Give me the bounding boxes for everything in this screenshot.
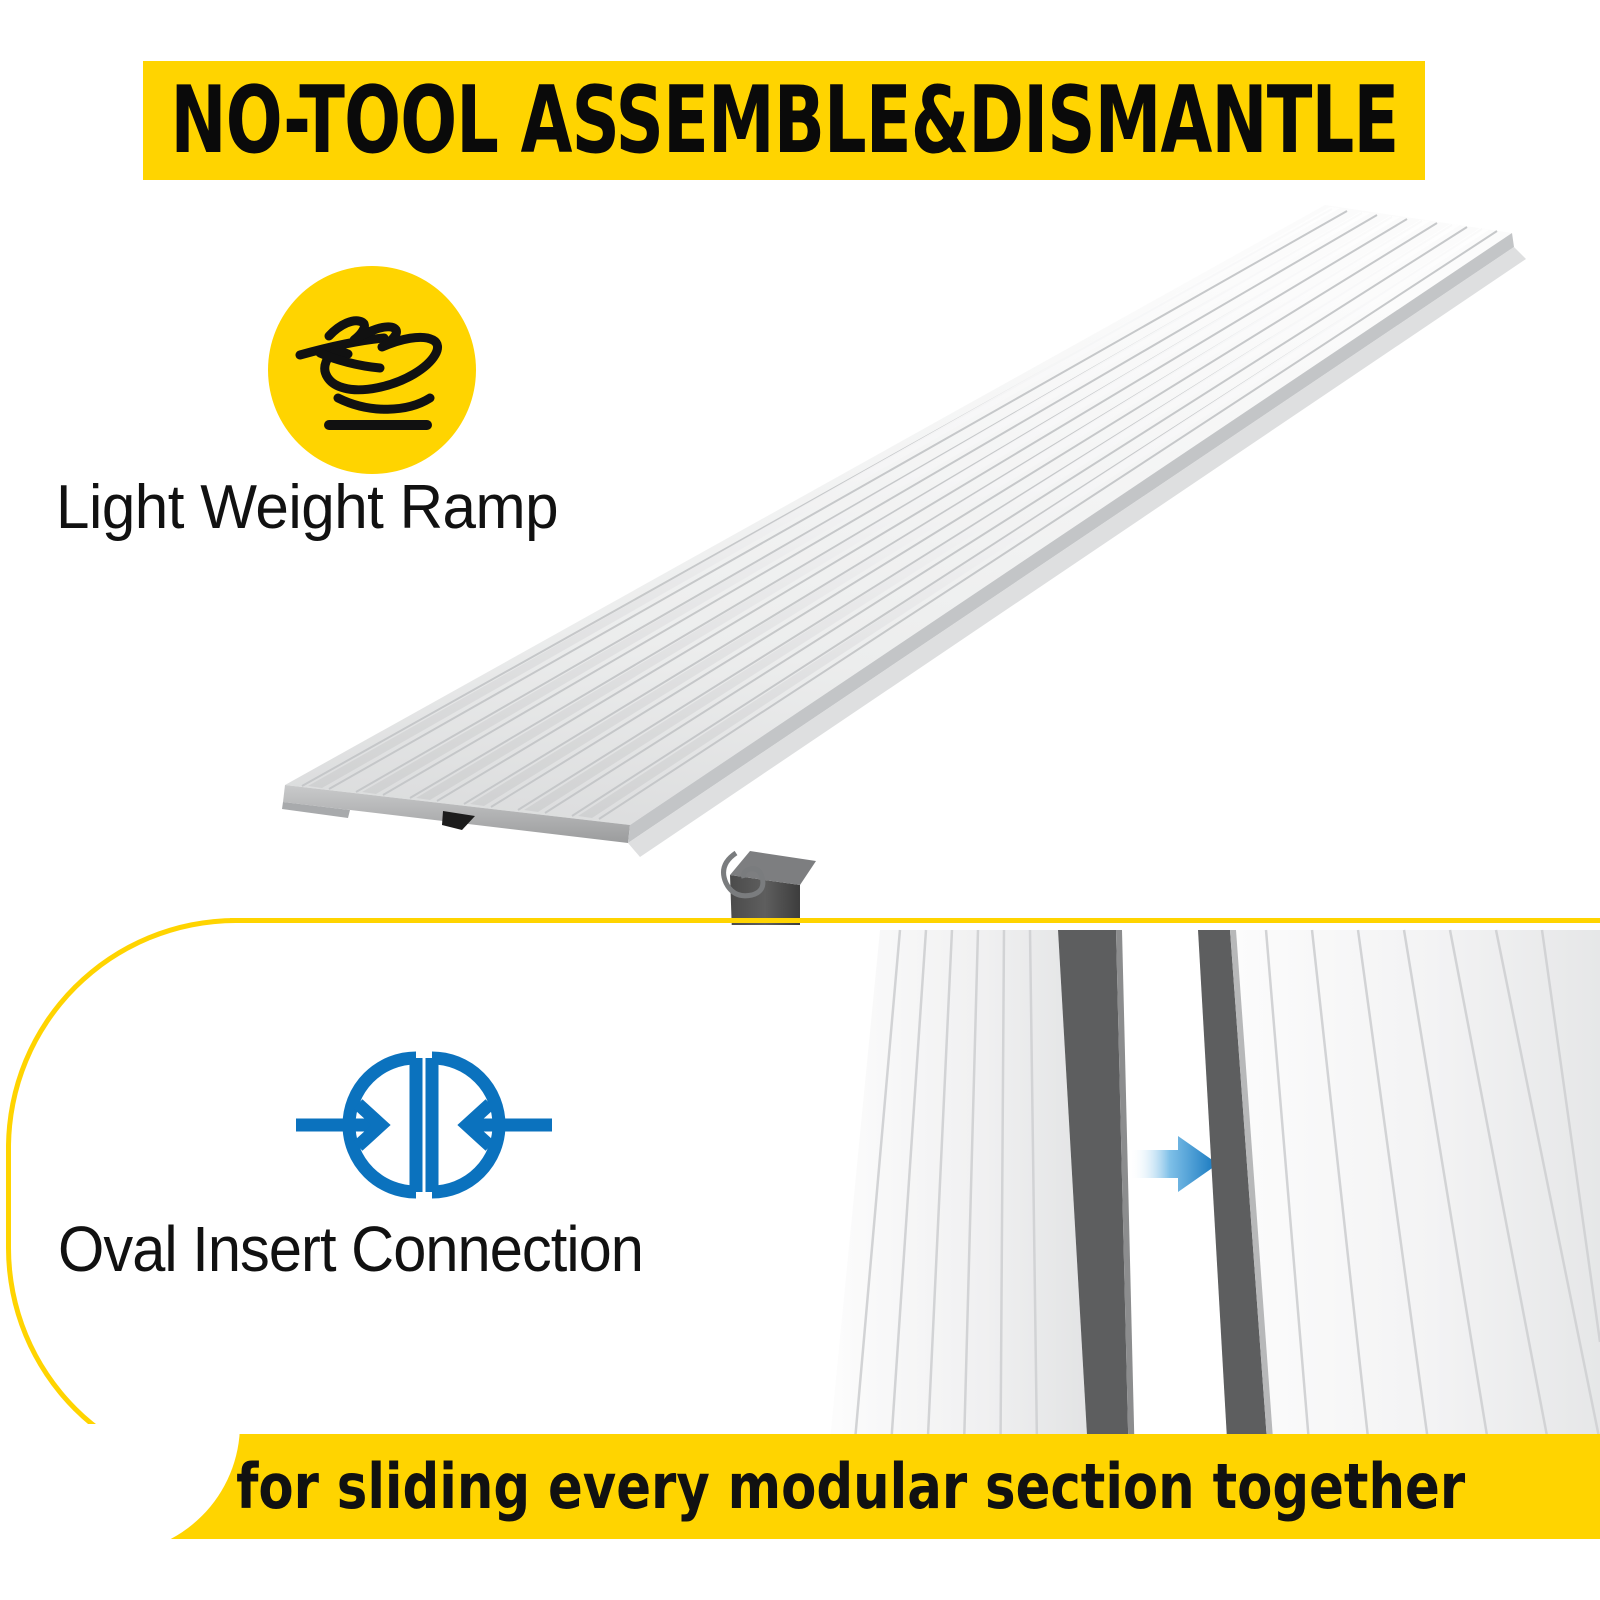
connection-detail-image bbox=[800, 922, 1600, 1442]
oval-feature-outline-top-edge bbox=[230, 918, 1600, 923]
oval-insert-label: Oval Insert Connection bbox=[58, 1212, 802, 1284]
slide-direction-arrow bbox=[1130, 1136, 1218, 1192]
feather-icon bbox=[288, 298, 458, 443]
connection-detail-svg bbox=[800, 922, 1600, 1442]
bottom-caption-text: for sliding every modular section togeth… bbox=[135, 1450, 1465, 1523]
connector-bracket bbox=[724, 851, 816, 925]
light-weight-label: Light Weight Ramp bbox=[56, 472, 735, 542]
infographic-page: NO-TOOL ASSEMBLE&DISMANTLE bbox=[0, 0, 1600, 1600]
top-headline-banner: NO-TOOL ASSEMBLE&DISMANTLE bbox=[143, 61, 1425, 180]
ramp-section-right bbox=[1198, 930, 1600, 1442]
top-headline-text: NO-TOOL ASSEMBLE&DISMANTLE bbox=[170, 74, 1398, 167]
bottom-caption-wrap: for sliding every modular section togeth… bbox=[64, 1434, 1536, 1539]
oval-insert-connection-icon bbox=[288, 1036, 560, 1214]
ramp-section-left bbox=[822, 930, 1136, 1442]
